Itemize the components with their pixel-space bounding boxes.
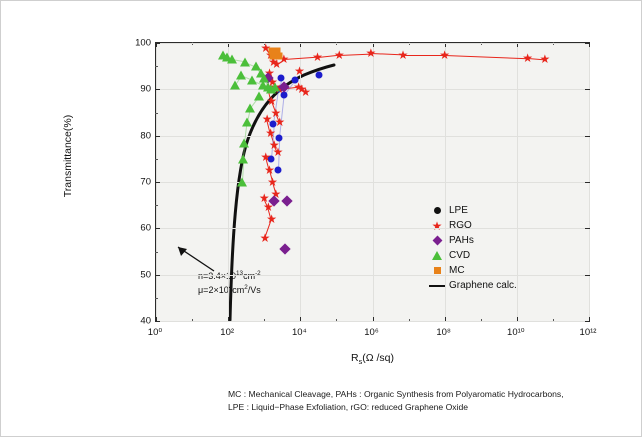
y-tick-label: 50 xyxy=(140,269,151,280)
data-point-cvd xyxy=(242,117,252,126)
caption-line-2: LPE : Liquid−Phase Exfoliation, rGO: red… xyxy=(228,401,564,414)
gridline-horizontal xyxy=(156,228,589,229)
annotation-arrow-icon xyxy=(170,241,216,275)
data-point-rgo: ★ xyxy=(334,49,345,61)
gridline-horizontal xyxy=(156,43,589,44)
data-point-cvd xyxy=(256,69,266,78)
y-tick-right xyxy=(585,89,590,90)
x-axis-title: Rs(Ω /sq) xyxy=(155,352,590,366)
data-point-cvd xyxy=(236,71,246,80)
annotation-line-2: μ=2×104cm2/Vs xyxy=(198,282,261,296)
y-tick-label: 60 xyxy=(140,223,151,234)
y-tick-minor xyxy=(155,298,158,299)
legend-label: PAHs xyxy=(449,235,474,246)
y-tick-label: 70 xyxy=(140,177,151,188)
star-icon: ★ xyxy=(428,220,446,232)
data-point-rgo: ★ xyxy=(312,51,323,63)
caption-line-1: MC : Mechanical Cleavage, PAHs : Organic… xyxy=(228,388,564,401)
legend-item-graphene-calc[interactable]: Graphene calc. xyxy=(428,278,517,293)
data-point-cvd xyxy=(230,80,240,89)
y-tick-label: 80 xyxy=(140,130,151,141)
y-tick xyxy=(155,321,160,322)
y-axis-title: Transmittance(%) xyxy=(62,76,74,236)
y-tick xyxy=(155,275,160,276)
data-point-cvd xyxy=(245,103,255,112)
circle-icon xyxy=(428,207,446,214)
legend-label: LPE xyxy=(449,205,468,216)
legend: LPE ★ RGO PAHs CVD MC Graphene calc. xyxy=(428,203,517,293)
legend-item-cvd[interactable]: CVD xyxy=(428,248,517,263)
data-point-cvd xyxy=(237,178,247,187)
legend-label: RGO xyxy=(449,220,472,231)
x-axis-title-rest: (Ω /sq) xyxy=(362,352,394,364)
diamond-icon xyxy=(428,237,446,244)
y-tick xyxy=(155,182,160,183)
data-point-lpe xyxy=(315,72,322,79)
data-point-cvd xyxy=(240,57,250,66)
x-tick-label: 10¹² xyxy=(580,327,597,338)
data-point-lpe xyxy=(274,167,281,174)
data-point-rgo: ★ xyxy=(439,49,450,61)
data-point-rgo: ★ xyxy=(273,146,284,158)
x-tick-label: 10⁰ xyxy=(148,327,162,338)
data-point-rgo: ★ xyxy=(398,49,409,61)
y-tick-right xyxy=(585,136,590,137)
y-tick-right xyxy=(585,275,590,276)
y-tick-right xyxy=(585,321,590,322)
y-tick-minor xyxy=(155,113,158,114)
data-point-rgo: ★ xyxy=(365,47,376,59)
square-icon xyxy=(428,267,446,274)
y-tick-minor xyxy=(155,159,158,160)
legend-item-mc[interactable]: MC xyxy=(428,263,517,278)
gridline-horizontal xyxy=(156,89,589,90)
x-tick-label: 10⁴ xyxy=(292,327,307,338)
data-point-rgo: ★ xyxy=(262,113,273,125)
x-tick-label: 10¹⁰ xyxy=(507,327,525,338)
data-point-rgo: ★ xyxy=(540,53,551,65)
x-tick-label: 10² xyxy=(220,327,234,338)
plot-area: n=3.4×1013cm-2 μ=2×104cm2/Vs LPE ★ RGO P… xyxy=(155,42,590,322)
data-point-rgo: ★ xyxy=(260,232,271,244)
y-tick-label: 40 xyxy=(140,316,151,327)
gridline-horizontal xyxy=(156,275,589,276)
y-tick-label: 100 xyxy=(135,38,151,49)
figure-caption: MC : Mechanical Cleavage, PAHs : Organic… xyxy=(228,388,564,413)
data-point-rgo: ★ xyxy=(274,116,285,128)
gridline-horizontal xyxy=(156,321,589,322)
y-tick-right xyxy=(585,228,590,229)
y-tick xyxy=(155,228,160,229)
data-point-rgo: ★ xyxy=(266,213,277,225)
gridline-horizontal xyxy=(156,182,589,183)
data-point-cvd xyxy=(254,92,264,101)
legend-item-rgo[interactable]: ★ RGO xyxy=(428,218,517,233)
legend-item-lpe[interactable]: LPE xyxy=(428,203,517,218)
data-point-rgo: ★ xyxy=(294,65,305,77)
data-point-cvd xyxy=(238,154,248,163)
y-tick-right xyxy=(585,182,590,183)
y-tick-label: 90 xyxy=(140,84,151,95)
y-tick-minor xyxy=(155,252,158,253)
y-tick xyxy=(155,43,160,44)
y-tick-minor xyxy=(155,66,158,67)
data-point-cvd xyxy=(270,83,280,92)
x-tick-label: 10⁶ xyxy=(364,327,378,338)
legend-item-pahs[interactable]: PAHs xyxy=(428,233,517,248)
legend-label: CVD xyxy=(449,250,470,261)
triangle-icon xyxy=(428,251,446,260)
y-tick-right xyxy=(585,43,590,44)
y-tick xyxy=(155,136,160,137)
data-point-cvd xyxy=(227,55,237,64)
figure-root: Transmittance(%) Rs(Ω /sq) n=3.4×1013cm-… xyxy=(0,0,643,438)
data-point-cvd xyxy=(239,138,249,147)
y-tick xyxy=(155,89,160,90)
data-point-rgo: ★ xyxy=(522,52,533,64)
data-point-mc xyxy=(275,52,282,59)
line-icon xyxy=(428,285,446,287)
data-point-rgo: ★ xyxy=(260,151,271,163)
y-tick-minor xyxy=(155,205,158,206)
legend-label: Graphene calc. xyxy=(449,280,517,291)
x-tick-label: 10⁸ xyxy=(436,327,451,338)
data-point-rgo: ★ xyxy=(300,86,311,98)
x-axis-title-main: R xyxy=(351,352,359,364)
gridline-horizontal xyxy=(156,136,589,137)
